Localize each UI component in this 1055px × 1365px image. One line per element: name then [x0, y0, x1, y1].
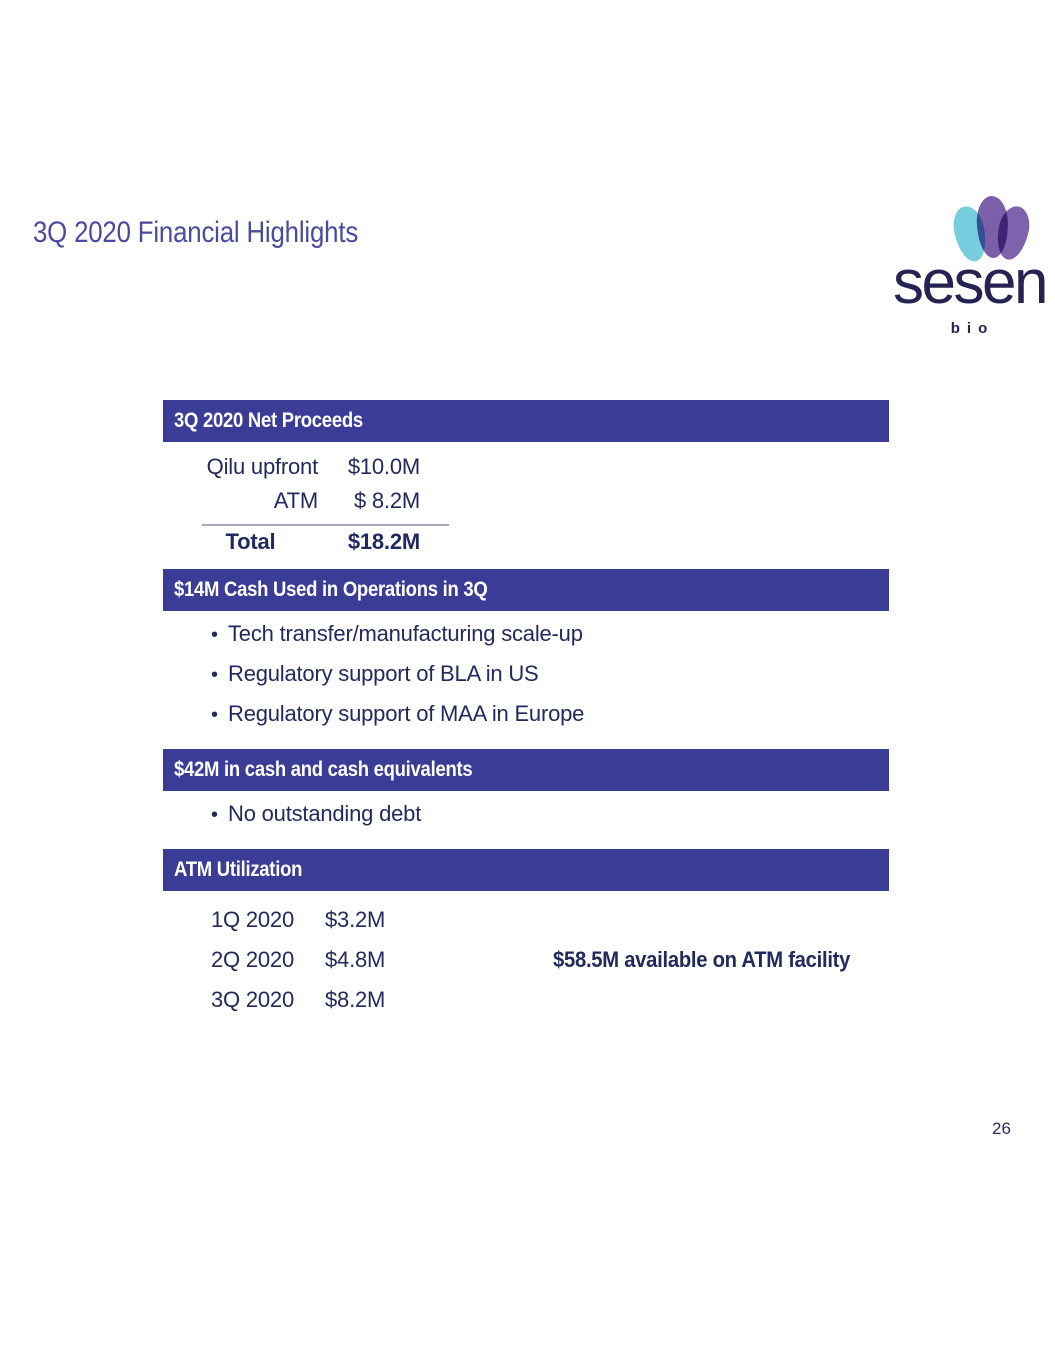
section-header-net-proceeds: 3Q 2020 Net Proceeds: [163, 400, 889, 442]
section-header-net-proceeds-label: 3Q 2020 Net Proceeds: [174, 409, 363, 433]
row-value: $18.2M: [318, 529, 433, 555]
atm-availability-note: $58.5M available on ATM facility: [553, 947, 850, 973]
net-proceeds-table: Qilu upfront $10.0M ATM $ 8.2M Total $18…: [163, 442, 889, 569]
content-stack: 3Q 2020 Net Proceeds Qilu upfront $10.0M…: [163, 400, 889, 1025]
table-total-divider: [202, 524, 449, 526]
table-row: Qilu upfront $10.0M: [163, 454, 889, 488]
row-value: $ 8.2M: [318, 488, 433, 514]
table-row: 3Q 2020 $8.2M: [211, 987, 445, 1027]
bullet-dot-icon: •: [211, 665, 228, 685]
slide-canvas: 3Q 2020 Financial Highlights sesen bio 3…: [0, 0, 1055, 1365]
list-item-label: Regulatory support of BLA in US: [228, 661, 539, 687]
section-header-atm-utilization-label: ATM Utilization: [174, 858, 302, 882]
atm-utilization-area: 1Q 2020 $3.2M 2Q 2020 $4.8M 3Q 2020 $8.2…: [163, 891, 889, 1025]
table-row: 1Q 2020 $3.2M: [211, 907, 445, 947]
cash-used-bullet-list: • Tech transfer/manufacturing scale-up •…: [163, 611, 889, 749]
list-item: • Regulatory support of BLA in US: [163, 661, 889, 701]
sesen-bio-logo: sesen bio: [893, 196, 1045, 348]
row-quarter: 1Q 2020: [211, 907, 325, 933]
list-item: • Tech transfer/manufacturing scale-up: [163, 621, 889, 661]
section-header-atm-utilization: ATM Utilization: [163, 849, 889, 891]
logo-wordmark: sesen: [893, 252, 1045, 314]
table-row-total: Total $18.2M: [163, 529, 889, 563]
bullet-dot-icon: •: [211, 805, 228, 825]
section-header-cash-used: $14M Cash Used in Operations in 3Q: [163, 569, 889, 611]
table-row: 2Q 2020 $4.8M: [211, 947, 445, 987]
row-amount: $8.2M: [325, 987, 445, 1013]
page-number: 26: [992, 1119, 1011, 1139]
row-quarter: 2Q 2020: [211, 947, 325, 973]
row-label: Qilu upfront: [163, 454, 318, 480]
atm-utilization-table: 1Q 2020 $3.2M 2Q 2020 $4.8M 3Q 2020 $8.2…: [211, 907, 445, 1027]
row-value: $10.0M: [318, 454, 433, 480]
row-label: ATM: [163, 488, 318, 514]
row-label: Total: [163, 529, 318, 555]
bullet-dot-icon: •: [211, 705, 228, 725]
page-title: 3Q 2020 Financial Highlights: [33, 216, 358, 250]
bullet-dot-icon: •: [211, 625, 228, 645]
list-item-label: Tech transfer/manufacturing scale-up: [228, 621, 583, 647]
row-quarter: 3Q 2020: [211, 987, 325, 1013]
list-item: • Regulatory support of MAA in Europe: [163, 701, 889, 741]
row-amount: $3.2M: [325, 907, 445, 933]
section-header-cash-used-label: $14M Cash Used in Operations in 3Q: [174, 578, 487, 602]
list-item-label: No outstanding debt: [228, 801, 421, 827]
list-item-label: Regulatory support of MAA in Europe: [228, 701, 584, 727]
logo-subtext: bio: [893, 320, 1045, 337]
section-header-cash-equivalents-label: $42M in cash and cash equivalents: [174, 758, 472, 782]
section-header-cash-equivalents: $42M in cash and cash equivalents: [163, 749, 889, 791]
list-item: • No outstanding debt: [163, 801, 889, 841]
table-row: ATM $ 8.2M: [163, 488, 889, 522]
cash-equivalents-bullet-list: • No outstanding debt: [163, 791, 889, 849]
row-amount: $4.8M: [325, 947, 445, 973]
